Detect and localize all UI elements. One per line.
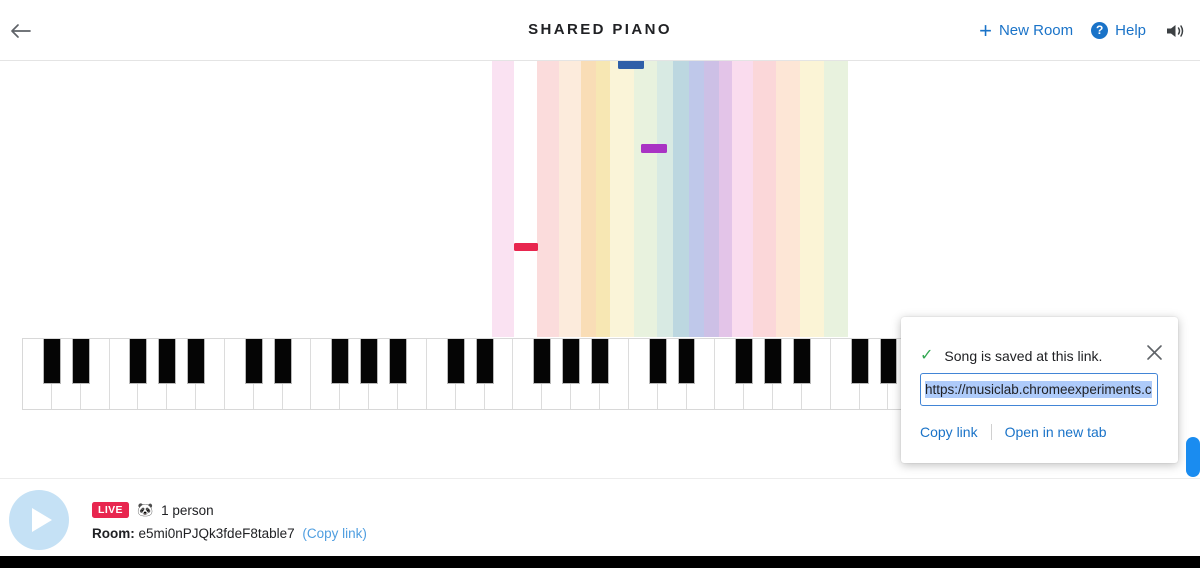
plus-icon: + [979,24,992,38]
note-column [776,61,800,337]
piano-black-key[interactable] [735,339,753,384]
scrollbar-thumb[interactable] [1186,437,1200,477]
copy-link-button[interactable]: Copy link [920,424,978,440]
save-dialog-message: Song is saved at this link. [944,348,1102,364]
note-column [634,61,657,337]
open-in-new-tab-button[interactable]: Open in new tab [1005,424,1107,440]
room-copy-link[interactable]: (Copy link) [302,526,367,541]
piano-black-key[interactable] [360,339,378,384]
piano-black-key[interactable] [447,339,465,384]
note-column [581,61,596,337]
note-block [641,144,667,153]
help-button[interactable]: ? Help [1091,22,1146,39]
new-room-button[interactable]: + New Room [979,22,1073,39]
play-icon [32,508,52,532]
note-column [492,61,514,337]
piano-black-key[interactable] [72,339,90,384]
people-count: 1 person [161,503,214,518]
note-column [537,61,559,337]
note-column [689,61,704,337]
note-column [673,61,689,337]
note-canvas[interactable] [0,61,1200,337]
piano-black-key[interactable] [562,339,580,384]
save-dialog-actions: Copy link Open in new tab [920,424,1107,440]
piano-black-key[interactable] [793,339,811,384]
note-column [824,61,848,337]
piano-black-key[interactable] [764,339,782,384]
bottom-toolbar: LIVE 🐼 1 person Room: e5mi0nPJQk3fdeF8ta… [0,478,1200,556]
piano-black-key[interactable] [533,339,551,384]
note-column [610,61,634,337]
save-link-dialog: ✓ Song is saved at this link. https://mu… [901,317,1178,463]
piano-black-key[interactable] [851,339,869,384]
note-column [559,61,581,337]
piano-black-key[interactable] [678,339,696,384]
note-column [596,61,610,337]
panda-avatar-icon: 🐼 [137,502,153,518]
piano-black-key[interactable] [245,339,263,384]
status-badge: LIVE [92,502,129,518]
room-code: e5mi0nPJQk3fdeF8table7 [139,526,295,541]
speaker-icon[interactable] [1164,20,1186,42]
piano-black-key[interactable] [476,339,494,384]
question-circle-icon: ? [1091,22,1108,39]
room-label: Room: [92,526,135,541]
bottom-black-bar [0,556,1200,568]
piano-black-key[interactable] [158,339,176,384]
piano-black-key[interactable] [129,339,147,384]
play-button[interactable] [9,490,69,550]
note-block [618,61,644,69]
note-column [753,61,776,337]
piano-black-key[interactable] [591,339,609,384]
note-column [800,61,824,337]
room-info: LIVE 🐼 1 person Room: e5mi0nPJQk3fdeF8ta… [92,501,367,541]
divider [991,424,992,440]
piano-black-key[interactable] [649,339,667,384]
header-actions: + New Room ? Help [979,0,1186,61]
piano-black-key[interactable] [331,339,349,384]
piano-black-key[interactable] [43,339,61,384]
note-column [732,61,753,337]
note-column [704,61,719,337]
help-label: Help [1115,22,1146,39]
app-header: SHARED PIANO + New Room ? Help [0,0,1200,61]
close-icon[interactable] [1142,340,1166,364]
shared-piano-app: SHARED PIANO + New Room ? Help [0,0,1200,568]
check-icon: ✓ [920,348,933,364]
piano-black-key[interactable] [389,339,407,384]
save-dialog-header: ✓ Song is saved at this link. [920,348,1102,364]
note-column [514,61,537,337]
share-url-input[interactable]: https://musiclab.chromeexperiments.c [920,373,1158,406]
note-column [719,61,732,337]
note-column [657,61,673,337]
share-url-value: https://musiclab.chromeexperiments.c [925,381,1152,398]
piano-black-key[interactable] [274,339,292,384]
piano-black-key[interactable] [187,339,205,384]
piano-black-key[interactable] [880,339,898,384]
new-room-label: New Room [999,22,1073,39]
note-block [514,243,538,251]
